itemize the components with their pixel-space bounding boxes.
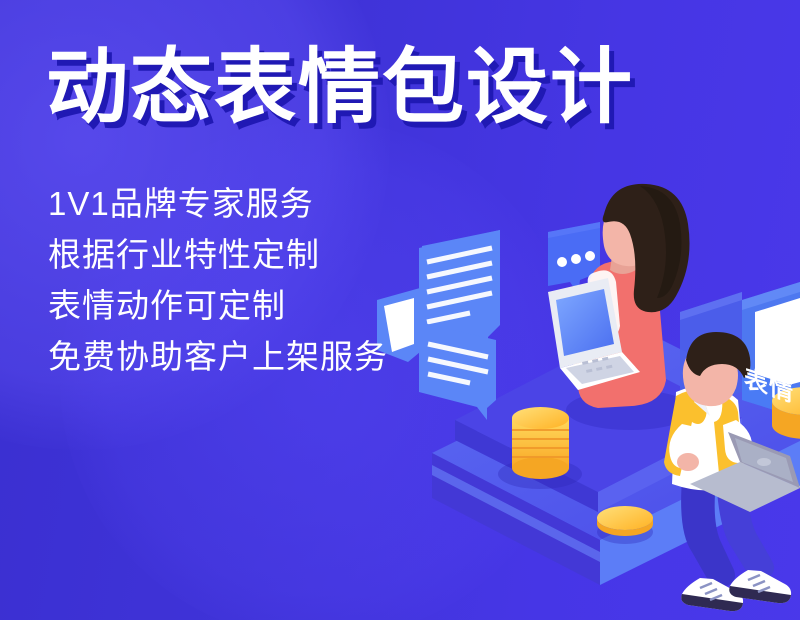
- page-title: 动态表情包设计: [46, 42, 634, 134]
- promo-banner: 动态表情包设计 1V1品牌专家服务 根据行业特性定制 表情动作可定制 免费协助客…: [0, 0, 800, 620]
- feature-list: 1V1品牌专家服务 根据行业特性定制 表情动作可定制 免费协助客户上架服务: [48, 178, 388, 382]
- feature-item-1: 1V1品牌专家服务: [48, 178, 388, 229]
- feature-item-3: 表情动作可定制: [48, 280, 388, 331]
- coin-single: [597, 506, 653, 544]
- chat-bubble-group: [419, 230, 500, 420]
- feature-item-4: 免费协助客户上架服务: [48, 331, 388, 382]
- feature-item-2: 根据行业特性定制: [48, 229, 388, 280]
